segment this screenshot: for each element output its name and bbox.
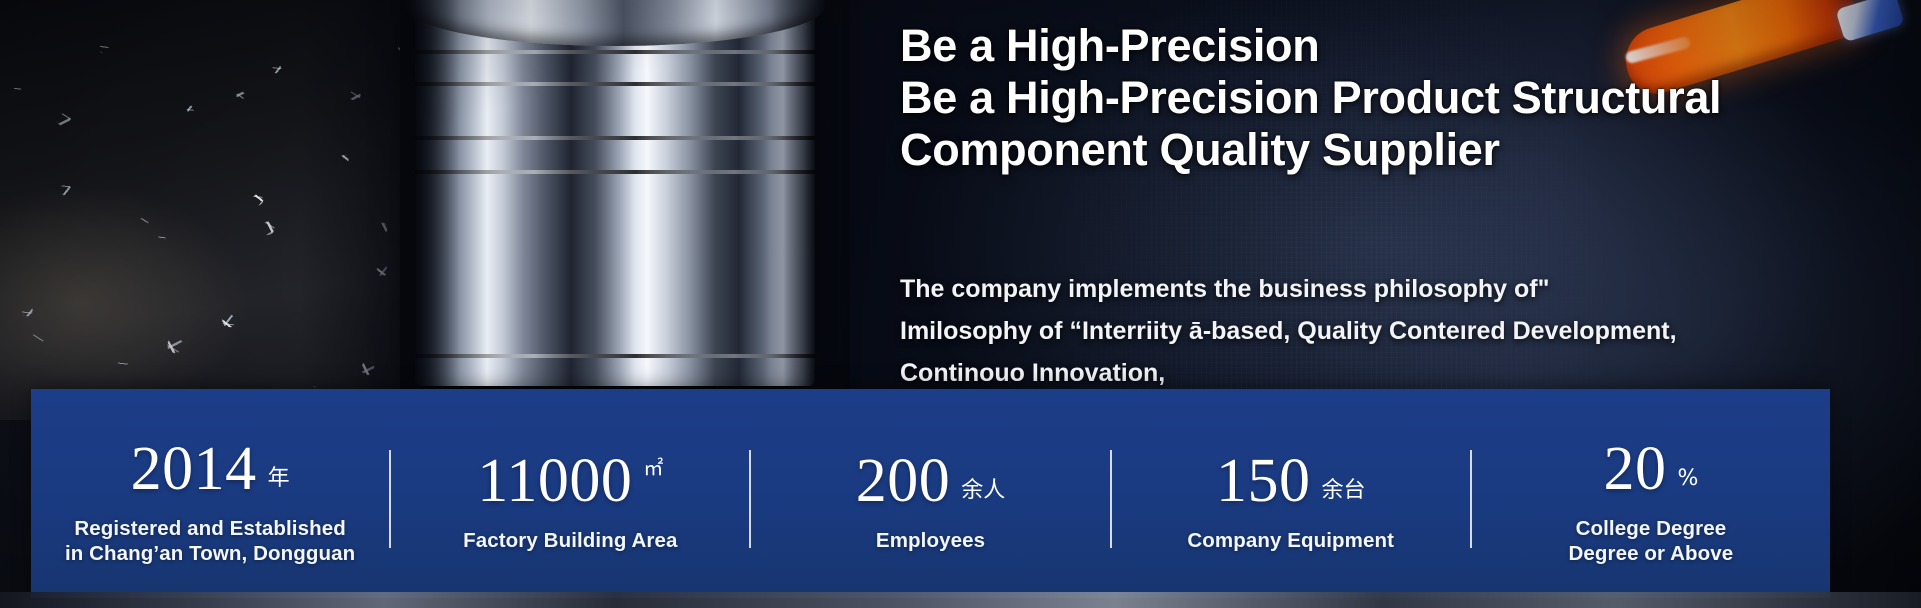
stat-unit: ㎡ (643, 456, 663, 480)
stat-value-group: 11000 ㎡ (477, 448, 663, 514)
stat-value: 150 (1216, 448, 1311, 514)
stat-label-line-2: Degree or Above (1569, 542, 1734, 565)
stat-label: Factory Building Area (463, 528, 677, 553)
stat-value-group: 2014 年 (131, 436, 290, 502)
stat-item-factory-area: 11000 ㎡ Factory Building Area (391, 434, 749, 553)
stat-label-line-1: Factory Building Area (463, 529, 677, 552)
subcopy-line-1: The company implements the business phil… (900, 268, 1910, 310)
headline-line-1: Be a High-Precision (900, 20, 1880, 72)
stat-value-group: 200 余人 (856, 448, 1006, 514)
stat-label-line-1: Company Equipment (1187, 529, 1394, 552)
stat-item-college-degree: 20 % College Degree Degree or Above (1472, 422, 1830, 566)
stat-unit: 余台 (1321, 479, 1365, 503)
stat-value: 2014 (131, 436, 257, 502)
subcopy-line-3: Continouo Innovation, (900, 352, 1910, 394)
headline-line-2: Be a High-Precision Product Structural (900, 72, 1880, 124)
stat-value: 20 (1603, 436, 1666, 502)
stat-value-group: 150 余台 (1216, 448, 1366, 514)
stat-label-line-1: College Degree (1576, 517, 1727, 540)
stat-label-line-2: in Chang’an Town, Dongguan (65, 542, 355, 565)
hero-banner: Be a High-Precision Be a High-Precision … (0, 0, 1921, 608)
stat-item-founded: 2014 年 Registered and Established in Cha… (31, 422, 389, 566)
headline-line-3: Component Quality Supplier (900, 124, 1880, 176)
stat-label: Employees (876, 528, 985, 553)
stat-unit: 年 (268, 467, 290, 491)
hero-subcopy: The company implements the business phil… (900, 268, 1910, 408)
stat-value: 200 (856, 448, 951, 514)
subcopy-line-2: Imilosophy of “Interriity ā-based, Quali… (900, 310, 1910, 352)
stat-item-equipment: 150 余台 Company Equipment (1112, 434, 1470, 553)
stat-label: College Degree Degree or Above (1569, 516, 1734, 566)
stat-label-line-1: Employees (876, 529, 985, 552)
stat-unit: 余人 (961, 479, 1005, 503)
stat-unit: % (1677, 467, 1698, 491)
stat-value-group: 20 % (1603, 436, 1698, 502)
stat-item-employees: 200 余人 Employees (751, 434, 1109, 553)
statistics-bar: 2014 年 Registered and Established in Cha… (31, 389, 1830, 598)
hero-headline: Be a High-Precision Be a High-Precision … (900, 20, 1880, 176)
stat-label: Company Equipment (1187, 528, 1394, 553)
stat-value: 11000 (477, 448, 632, 514)
stat-label-line-1: Registered and Established (74, 517, 345, 540)
bottom-photo-strip (0, 592, 1921, 608)
stat-label: Registered and Established in Chang’an T… (65, 516, 355, 566)
